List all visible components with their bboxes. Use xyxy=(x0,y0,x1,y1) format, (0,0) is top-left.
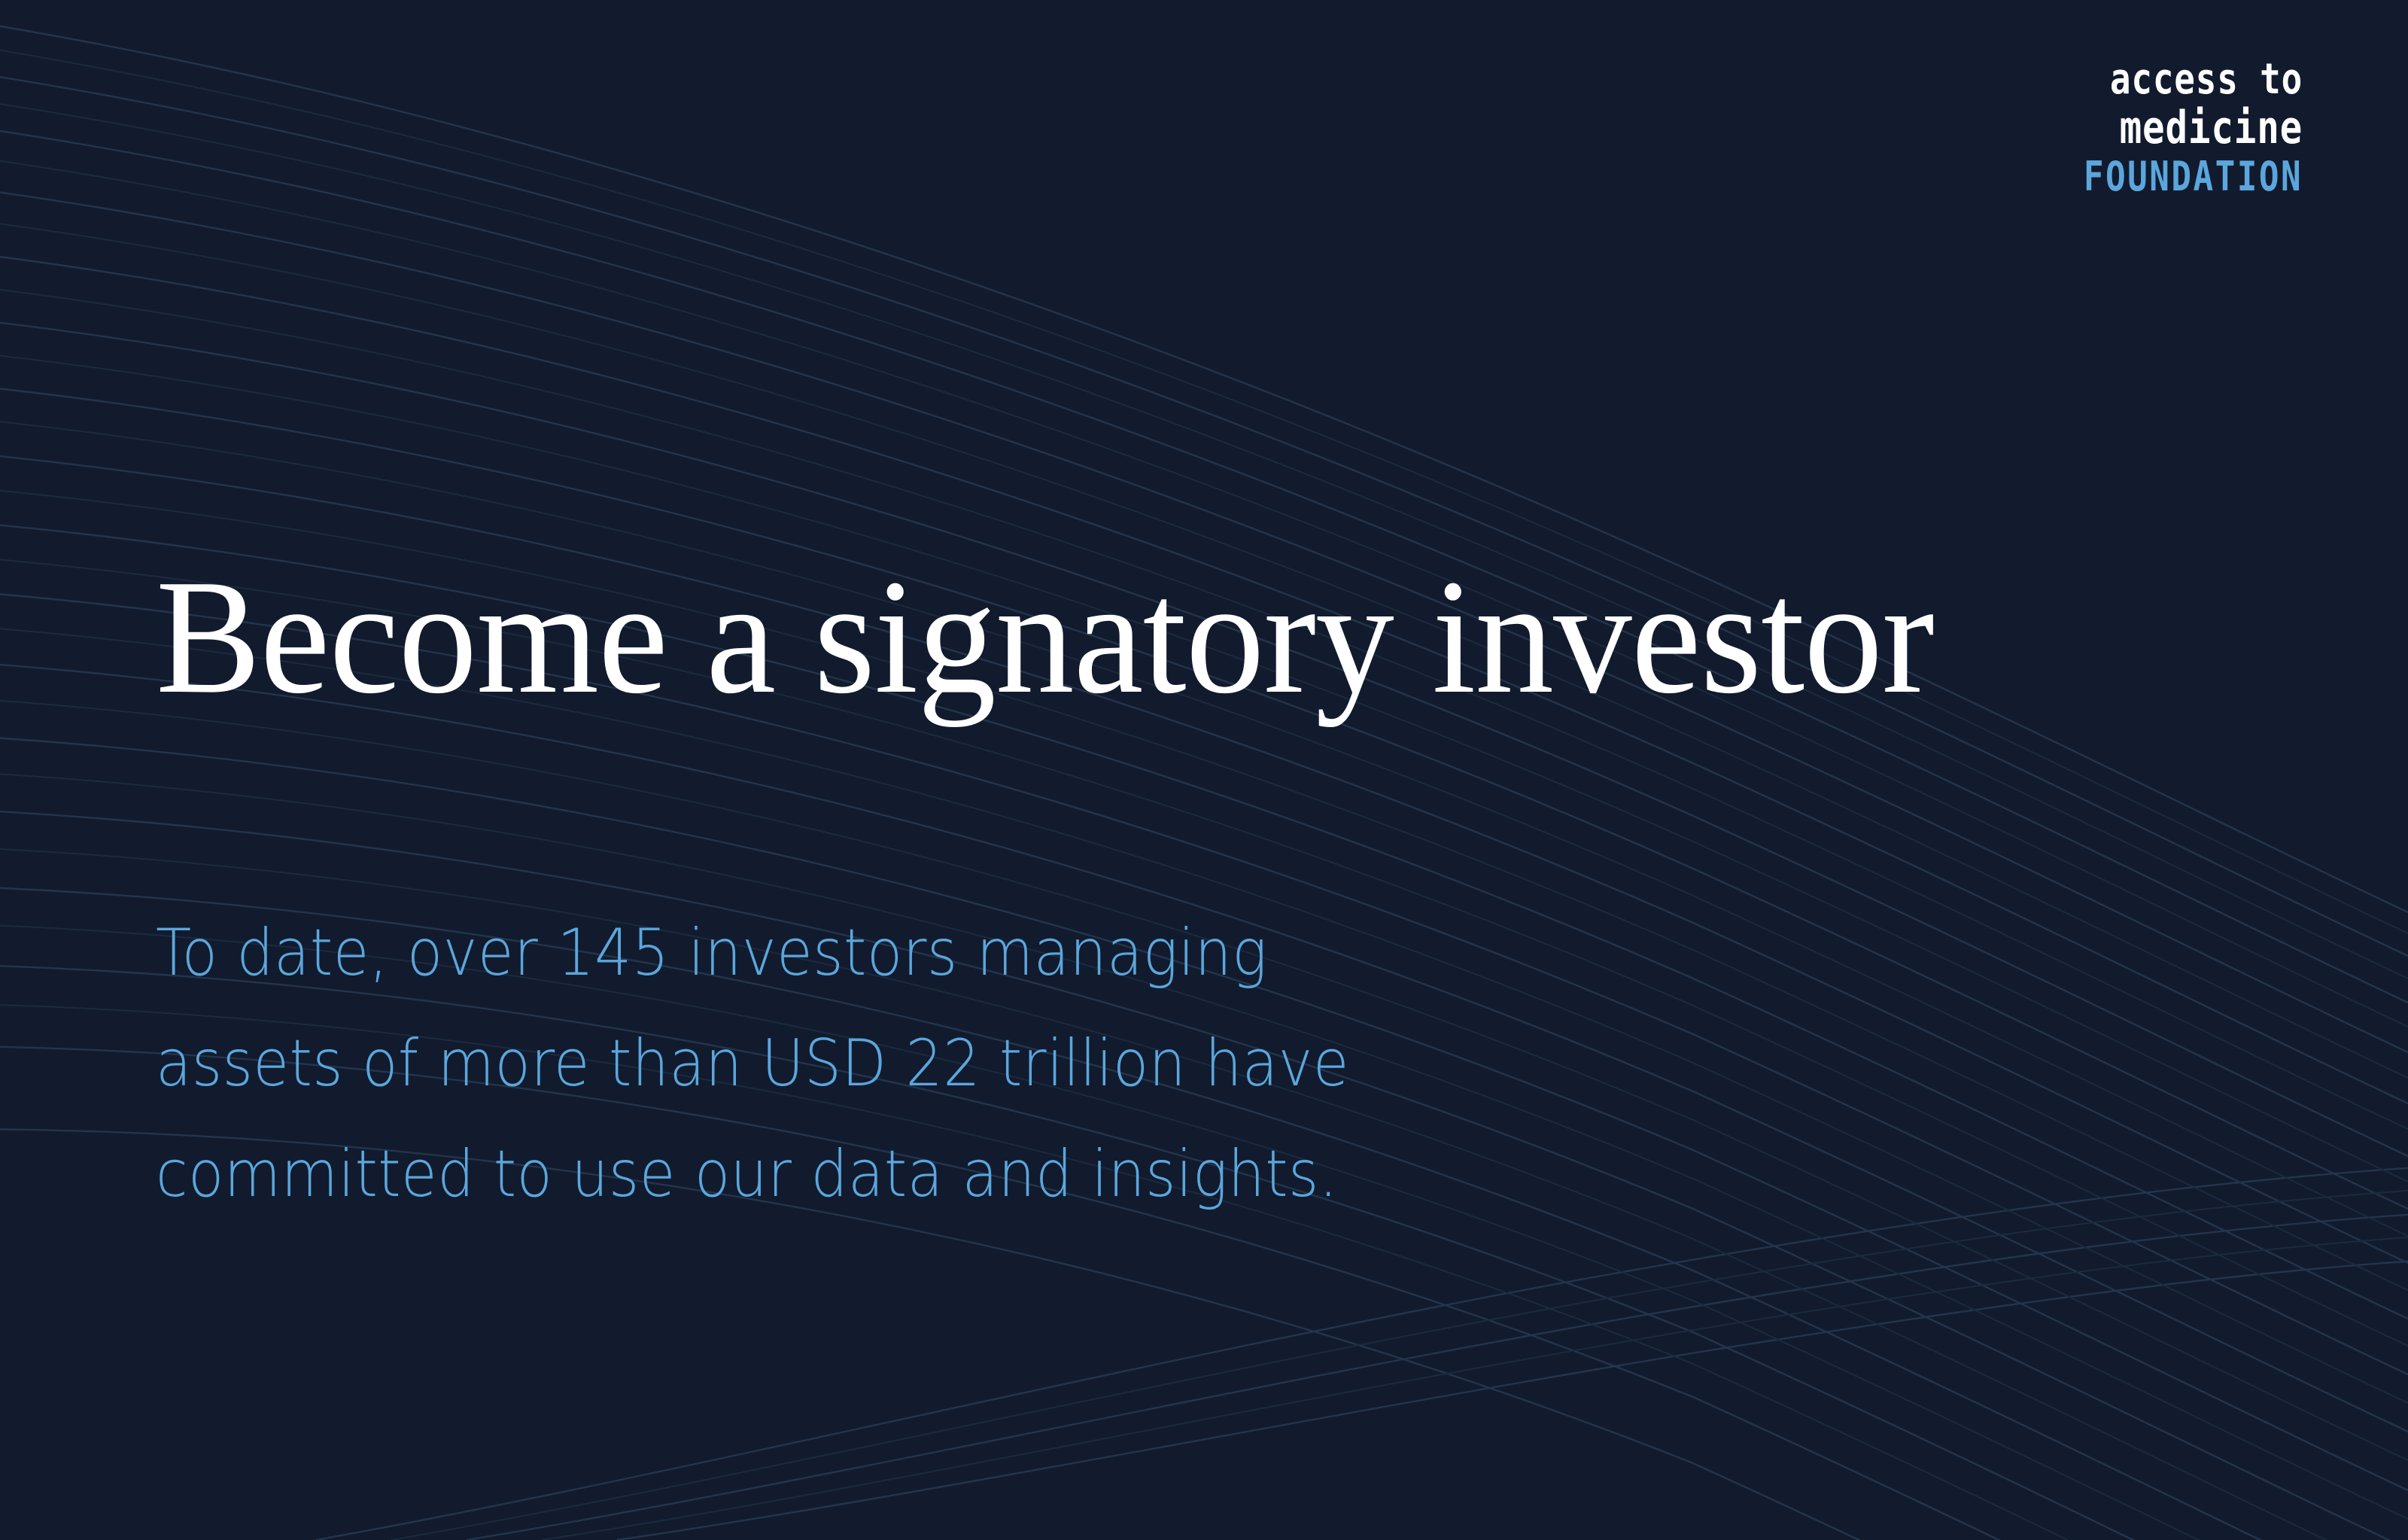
slide-canvas: access to medicine FOUNDATION Become a s… xyxy=(0,0,2408,1540)
logo-line-foundation: FOUNDATION xyxy=(2084,157,2303,197)
logo-line-medicine: medicine xyxy=(2084,105,2303,151)
brand-logo: access to medicine FOUNDATION xyxy=(2036,59,2303,197)
body-copy-line-1: To date, over 145 investors managing xyxy=(156,898,1349,1009)
page-title: Become a signatory investor xyxy=(156,555,1934,720)
body-copy-line-3: committed to use our data and insights. xyxy=(156,1119,1349,1230)
logo-line-access-to: access to xyxy=(2084,59,2303,101)
body-copy: To date, over 145 investors managing ass… xyxy=(156,898,1482,1230)
body-copy-line-2: assets of more than USD 22 trillion have xyxy=(156,1009,1349,1119)
background-swoosh-lines xyxy=(0,0,2408,1540)
